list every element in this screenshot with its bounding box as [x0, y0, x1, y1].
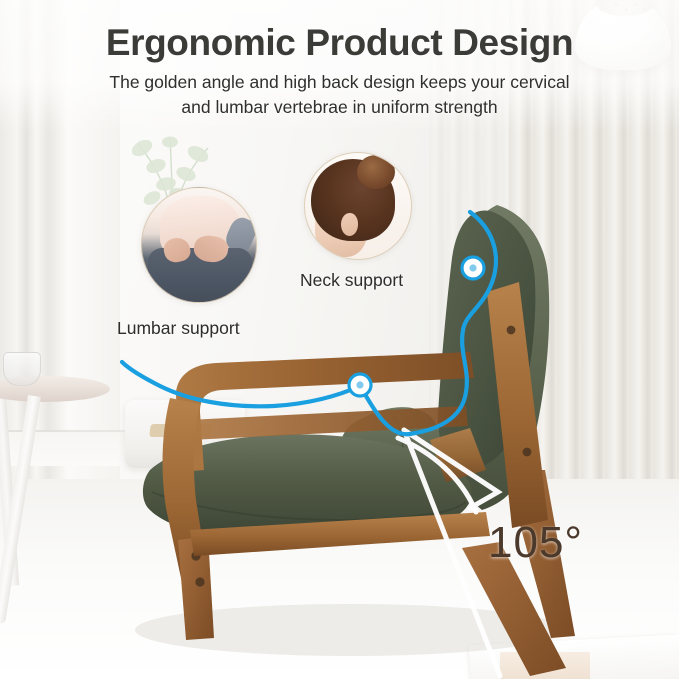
subtitle-line-1: The golden angle and high back design ke…: [0, 70, 679, 95]
neck-support-label: Neck support: [300, 270, 403, 291]
photo-hair-bun: [357, 155, 395, 189]
lumbar-support-photo: [141, 187, 257, 303]
lumbar-support-label: Lumbar support: [117, 318, 240, 339]
neck-support-photo: [304, 152, 412, 260]
angle-indicator-lines: [398, 430, 500, 676]
page-title: Ergonomic Product Design: [0, 22, 679, 64]
photo-ear: [341, 213, 358, 236]
marker-dot-lumbar: [349, 374, 371, 396]
product-marketing-image: Ergonomic Product Design The golden angl…: [0, 0, 679, 679]
page-subtitle: The golden angle and high back design ke…: [0, 70, 679, 120]
subtitle-line-2: and lumbar vertebrae in uniform strength: [0, 95, 679, 120]
marker-dot-neck: [462, 257, 484, 279]
seat-angle-label: 105°: [488, 518, 583, 568]
